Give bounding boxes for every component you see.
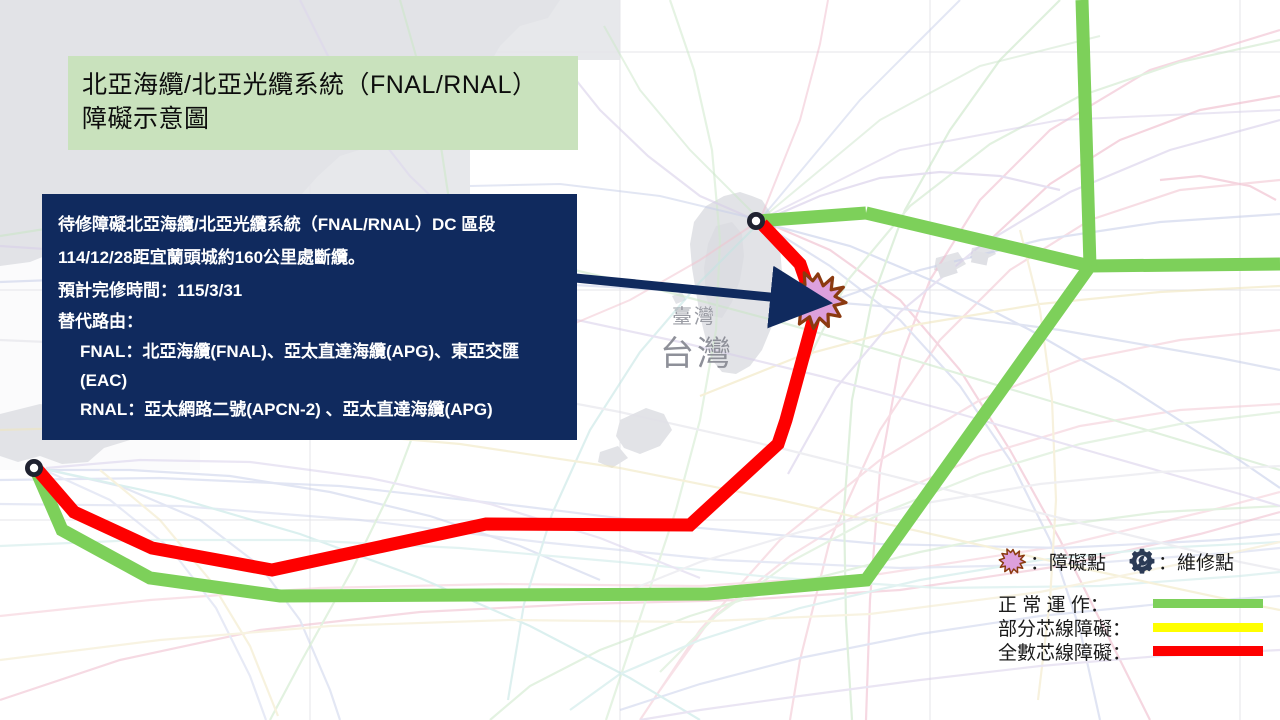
legend-repair-point-label: ：維修點 bbox=[1158, 548, 1234, 575]
legend-repair-point: ：維修點 bbox=[1128, 547, 1234, 575]
legend-status-full: 全數芯線障礙： bbox=[998, 639, 1270, 663]
legend: ：障礙點 ：維修點 正 常 運 作： 部分芯線障礙： bbox=[998, 543, 1270, 663]
legend-swatch-full bbox=[1153, 646, 1263, 656]
fault-description-line1: 待修障礙北亞海纜/北亞光纜系統（FNAL/RNAL）DC 區段 bbox=[58, 208, 561, 241]
legend-status-rows: 正 常 運 作： 部分芯線障礙： 全數芯線障礙： bbox=[998, 591, 1270, 663]
cable-fault-map: 臺灣 台灣 北亞海纜/北亞光纜系統（FNAL/RNAL） 障礙示意圖 待修障礙北… bbox=[0, 0, 1280, 720]
page-title-line1: 北亞海纜/北亞光纜系統（FNAL/RNAL） bbox=[82, 68, 564, 102]
fault-info-panel: 待修障礙北亞海纜/北亞光纜系統（FNAL/RNAL）DC 區段 114/12/2… bbox=[42, 194, 577, 440]
fault-star-icon bbox=[998, 546, 1028, 576]
legend-fault-point-label: ：障礙點 bbox=[1030, 548, 1106, 575]
legend-status-normal: 正 常 運 作： bbox=[998, 591, 1270, 615]
legend-status-partial: 部分芯線障礙： bbox=[998, 615, 1270, 639]
alternate-route-rnal: RNAL：亞太網路二號(APCN-2) 、亞太直達海纜(APG) bbox=[58, 395, 561, 424]
legend-point-row: ：障礙點 ：維修點 bbox=[998, 543, 1270, 579]
fault-description-line2: 114/12/28距宜蘭頭城約160公里處斷纜。 bbox=[58, 241, 561, 274]
legend-swatch-partial bbox=[1153, 623, 1263, 632]
alternate-routes-heading: 替代路由： bbox=[58, 307, 561, 337]
estimated-repair-time: 預計完修時間：115/3/31 bbox=[58, 274, 561, 307]
legend-fault-point: ：障礙點 bbox=[998, 546, 1106, 576]
legend-swatch-normal bbox=[1153, 599, 1263, 608]
gear-wrench-icon bbox=[1128, 547, 1156, 575]
page-title-line2: 障礙示意圖 bbox=[82, 102, 564, 136]
legend-status-normal-label: 正 常 運 作： bbox=[998, 590, 1153, 617]
page-title: 北亞海纜/北亞光纜系統（FNAL/RNAL） 障礙示意圖 bbox=[68, 56, 578, 150]
legend-status-partial-label: 部分芯線障礙： bbox=[998, 614, 1153, 641]
alternate-route-fnal: FNAL：北亞海纜(FNAL)、亞太直達海纜(APG)、東亞交匯(EAC) bbox=[58, 337, 561, 395]
legend-status-full-label: 全數芯線障礙： bbox=[998, 638, 1153, 665]
